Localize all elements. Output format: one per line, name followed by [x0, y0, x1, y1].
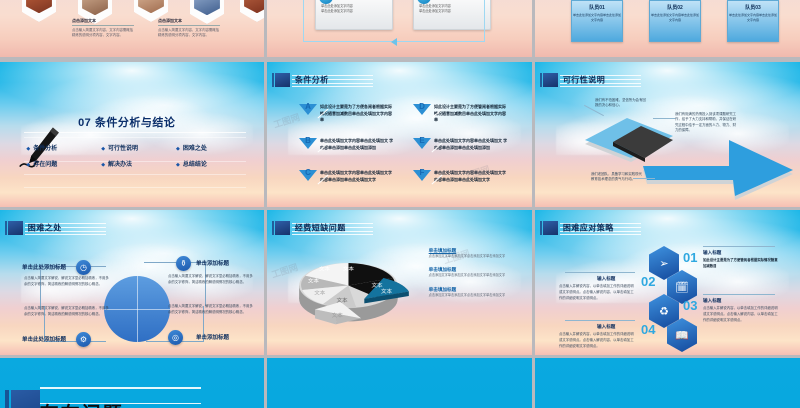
- slide-thumbnail-existing-problems[interactable]: 存在问题: [0, 358, 264, 408]
- item-body: 点击输入简要文字解说，解说文字显必概括精炼，不用多余的文字修饰，简洁精炼的解说明…: [24, 276, 110, 288]
- slide-thumbnail-feasibility[interactable]: 可行性说明 我们有不怕困难、坚信所为会有回报的决心和信心。 我们有饱满的热情投入…: [535, 62, 800, 207]
- header-square-icon: [8, 221, 23, 235]
- step-number: 01: [683, 250, 697, 265]
- item-text: 单击此处填加文字内容单击此处填加文 字内容单击添加单击此处填加添加: [320, 138, 394, 151]
- caption-body: 点击输入简要文字内容，文字内容需概括精炼的说明分项内容，文字内容。: [72, 28, 134, 38]
- analysis-item: B 单击此处填加文字内容单击此处填加文 字内容单击添加单击此处填加添加: [299, 138, 394, 151]
- team-member-box[interactable]: 队员02 单击此处添加文字内容单击此处添加文字内容: [649, 0, 701, 42]
- step-label: 输入标题: [703, 250, 721, 256]
- callout-text: 我们有不怕困难、坚信所为会有回报的决心和信心。: [595, 98, 647, 109]
- pie-legend: 单击填加标题 点击添加文字单击添加文字点击添加文字单击添加文字 单击填加标题 点…: [429, 248, 524, 306]
- item-key: A: [299, 102, 317, 111]
- avatar: [240, 0, 264, 22]
- header-title: 经费短缺问题: [295, 223, 346, 234]
- step-number: 03: [683, 298, 697, 313]
- triangle-marker: C: [299, 170, 317, 181]
- bullet-item[interactable]: 解决办法: [101, 159, 176, 168]
- slide-background: [535, 358, 800, 408]
- bullet-item[interactable]: 总结结论: [176, 159, 251, 168]
- triangle-marker: B: [299, 138, 317, 149]
- dark-plate-graphic: [611, 120, 675, 164]
- member-body: 单击此处添加文字内容单击此处添加文字内容: [572, 13, 622, 23]
- slide-thumbnail-blank-2[interactable]: [535, 358, 800, 408]
- item-key: D: [413, 102, 431, 111]
- target-icon: ◎: [168, 330, 183, 345]
- legend-item[interactable]: 单击填加标题 点击添加文字单击添加文字点击添加文字单击添加文字: [429, 287, 524, 298]
- caption-title: 点击添加文本: [158, 18, 220, 26]
- analysis-item: F 单击此处填加文字内容单击此处填加文字内容单击添加单击此处填加文字: [413, 170, 508, 183]
- legend-item[interactable]: 单击填加标题 点击添加文字单击添加文字点击添加文字单击添加文字: [429, 267, 524, 278]
- analysis-item: C 单击此处填加文字内容单击此处填加文字内容单击添加单击此处填加文字: [299, 170, 394, 183]
- slide-thumbnail-grid: 点击添加文本 点击输入简要文字内容，文字内容需概括精炼的说明分项内容，文字内容。…: [0, 0, 800, 408]
- item-text: 如此设计主要是为了方便管阅者根据实际情况随意加减数目单击此处填加文字内容单: [434, 104, 508, 124]
- flow-arrow-icon: [391, 38, 397, 46]
- slide-header: 可行性说明: [535, 72, 800, 88]
- bullet-item[interactable]: 条件分析: [26, 143, 101, 152]
- gear-icon: ⚙: [76, 332, 91, 347]
- leader-line: [653, 118, 675, 119]
- item-text: 单击此处填加文字内容单击此处填加文字内容单击添加单击此处填加文字: [320, 170, 394, 183]
- triangle-marker: A: [299, 104, 317, 115]
- slide-thumbnail-flowchart[interactable]: 点击添加文字内容 点击添加文字内容 单击此处添加文字内容 单击此处添加文字内容 …: [267, 0, 532, 57]
- header-title: 条件分析: [295, 75, 329, 86]
- step-label: 输入标题: [597, 324, 615, 330]
- slide-thumbnail-section-title[interactable]: 07 条件分析与结论 条件分析 可行性说明 困难之处 存在问题 解决办法 总结结…: [0, 62, 264, 207]
- flow-connector: [303, 0, 485, 42]
- item-key: B: [299, 136, 317, 145]
- slide-title: 07 条件分析与结论: [0, 114, 253, 130]
- slide-thumbnail-team-avatars[interactable]: 点击添加文本 点击输入简要文字内容，文字内容需概括精炼的说明分项内容，文字内容。…: [0, 0, 264, 57]
- item-body: 点击输入简要文字解说，解说文字显必概括精炼，不用多余的文字修饰，简洁精炼的解说明…: [168, 274, 254, 286]
- slide-thumbnail-condition-analysis[interactable]: 条件分析 A 如此设计主要是为了方便各阅者根据实际情况随意加减数目单击此处填加文…: [267, 62, 532, 207]
- member-title: 队员02: [650, 4, 700, 11]
- triangle-marker: E: [413, 138, 431, 149]
- legend-item[interactable]: 单击填加标题 点击添加文字单击添加文字点击添加文字单击添加文字: [429, 248, 524, 259]
- divider: [703, 294, 775, 295]
- item-key: F: [413, 168, 431, 177]
- analysis-item: A 如此设计主要是为了方便各阅者根据实际情况随意加减数目单击此处填加文字内容单: [299, 104, 394, 124]
- slide-header: 困难应对策略: [535, 220, 800, 236]
- bullet-item[interactable]: 困难之处: [176, 143, 251, 152]
- connector-line: [40, 266, 106, 310]
- divider: [565, 320, 635, 321]
- item-text: 单击此处填加文字内容单击此处填加文字内容单击添加单击此处填加文字: [434, 170, 508, 183]
- binoculars-icon: ⚱: [176, 256, 191, 271]
- step-number: 04: [641, 322, 655, 337]
- slide-title: 存在问题: [40, 399, 124, 408]
- slide-thumbnail-difficulty-strategy[interactable]: 困难应对策略 ➢ 🗓 ♻ 📖 01 02 03 04 输入标题 如此设计主要是为…: [535, 210, 800, 355]
- caption-title: 点击添加文本: [72, 18, 134, 26]
- header-square-icon: [543, 221, 558, 235]
- item-label: 单击此处添加标题: [22, 335, 66, 343]
- avatar-caption: 点击添加文本 点击输入简要文字内容，文字内容需概括精炼的说明分项内容，文字内容。: [158, 18, 220, 38]
- slide-header: 经费短缺问题: [267, 220, 532, 236]
- bullet-item[interactable]: 存在问题: [26, 159, 101, 168]
- caption-body: 点击输入简要文字内容，文字内容需概括精炼的说明分项内容，文字内容。: [158, 28, 220, 38]
- team-member-box[interactable]: 队员01 单击此处添加文字内容单击此处添加文字内容: [571, 0, 623, 42]
- step-number: 02: [641, 274, 655, 289]
- header-square-icon: [275, 221, 290, 235]
- step-label: 输入标题: [703, 298, 721, 304]
- member-title: 队员03: [728, 4, 778, 11]
- pie-chart-3d: 文本 文本 文本 文本 文本 文本 文本 文本: [288, 245, 415, 335]
- legend-body: 点击添加文字单击添加文字点击添加文字单击添加文字: [429, 273, 524, 278]
- item-text: 单击此处填加文字内容单击此处填加文 字内容单击添加单击此处填加添加: [434, 138, 508, 151]
- header-square-icon: [275, 73, 290, 87]
- slide-thumbnail-difficulties[interactable]: 困难之处 ◷ 单击此处添加标题 点击输入简要文字解说，解说文字显必概括精炼，不用…: [0, 210, 264, 355]
- item-label: 单击添加标题: [196, 259, 229, 267]
- analysis-item: E 单击此处填加文字内容单击此处填加文 字内容单击添加单击此处填加添加: [413, 138, 508, 151]
- legend-body: 点击添加文字单击添加文字点击添加文字单击添加文字: [429, 254, 524, 259]
- step-body: 点击输入并解说内容，以单击填加工作的详细说明或文字说明点。点击输入解说内容，以单…: [703, 306, 779, 323]
- divider: [703, 246, 775, 247]
- header-title: 困难应对策略: [563, 223, 614, 234]
- analysis-item: D 如此设计主要是为了方便管阅者根据实际情况随意加减数目单击此处填加文字内容单: [413, 104, 508, 124]
- slide-background: [267, 358, 532, 408]
- section-number: 07: [78, 117, 91, 129]
- slide-thumbnail-blank-1[interactable]: [267, 358, 532, 408]
- header-square-icon: [11, 390, 40, 408]
- section-bullets: 条件分析 可行性说明 困难之处 存在问题 解决办法 总结结论: [26, 143, 250, 168]
- item-text: 如此设计主要是为了方便各阅者根据实际情况随意加减数目单击此处填加文字内容单: [320, 104, 394, 124]
- header-square-icon: [543, 73, 558, 87]
- item-key: C: [299, 168, 317, 177]
- header-title: 困难之处: [28, 223, 62, 234]
- member-title: 队员01: [572, 4, 622, 11]
- team-member-box[interactable]: 队员03 单击此处添加文字内容单击此处添加文字内容: [727, 0, 779, 42]
- slide-header: 困难之处: [0, 220, 264, 236]
- step-body: 点击输入并解说内容，以单击填加工作的详细说明或文字说明点。点击输入解说内容，以单…: [559, 284, 635, 301]
- step-body: 点击输入并解说内容，以单击填加工作的详细说明或文字说明点。点击输入解说内容，以单…: [559, 332, 635, 349]
- slide-thumbnail-team-members[interactable]: 队员01 单击此处添加文字内容单击此处添加文字内容 队员02 单击此处添加文字内…: [535, 0, 800, 57]
- avatar: [22, 0, 56, 22]
- member-body: 单击此处添加文字内容单击此处添加文字内容: [650, 13, 700, 23]
- bullet-item[interactable]: 可行性说明: [101, 143, 176, 152]
- member-body: 单击此处添加文字内容单击此处添加文字内容: [728, 13, 778, 23]
- avatar-caption: 点击添加文本 点击输入简要文字内容，文字内容需概括精炼的说明分项内容，文字内容。: [72, 18, 134, 38]
- slide-thumbnail-funding-shortage[interactable]: 经费短缺问题 文本 文本 文本 文本: [267, 210, 532, 355]
- legend-body: 点击添加文字单击添加文字点击添加文字单击添加文字: [429, 293, 524, 298]
- step-body: 如此设计主要是为了方便管阅者根据实际情况随意加减数目: [703, 258, 779, 270]
- step-label: 输入标题: [597, 276, 615, 282]
- item-body: 点击输入简要文字解说，解说文字显必概括精炼，不用多余的文字修饰，简洁精炼的解说明…: [24, 306, 110, 318]
- header-title: 可行性说明: [563, 75, 606, 86]
- slide-header: 条件分析: [267, 72, 532, 88]
- section-title-text: 条件分析与结论: [95, 117, 176, 129]
- item-label: 单击此处添加标题: [22, 263, 66, 271]
- item-body: 点击输入简要文字解说，解说文字显必概括精炼，不用多余的文字修饰，简洁精炼的解说明…: [168, 304, 254, 316]
- triangle-marker: F: [413, 170, 431, 181]
- item-key: E: [413, 136, 431, 145]
- divider: [565, 272, 635, 273]
- callout-text: 我们有饱满的热情投入到该项课题研究工作，给予了大力支持和帮助，并保证在研究过程中…: [675, 112, 739, 134]
- clock-icon: ◷: [76, 260, 91, 275]
- leader-line: [633, 178, 655, 179]
- triangle-marker: D: [413, 104, 431, 115]
- item-label: 单击添加标题: [196, 333, 229, 341]
